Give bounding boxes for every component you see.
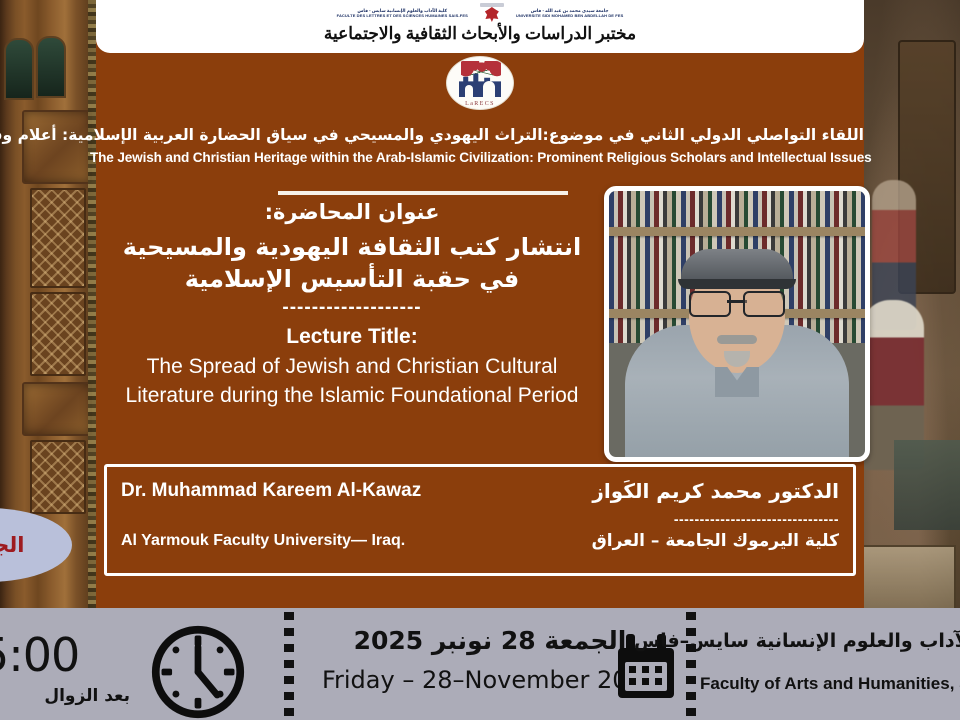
speaker-cap-brim xyxy=(678,279,796,289)
lattice-screen xyxy=(30,188,86,288)
university-crest-icon xyxy=(478,2,506,24)
event-title-arabic: اللقاء التواصلي الدولي الثاني في موضوع:ا… xyxy=(96,126,864,144)
header-strip: كلية الآداب والعلوم الإنسانية سايس - فاس… xyxy=(96,0,864,53)
institution-logos-row: كلية الآداب والعلوم الإنسانية سايس - فاس… xyxy=(96,2,864,24)
title-divider-rule xyxy=(278,191,568,195)
lattice-screen xyxy=(30,292,86,376)
speaker-info-box: Dr. Muhammad Kareem Al-Kawaz الدكتور محم… xyxy=(104,464,856,576)
speaker-affiliation-english: Al Yarmouk Faculty University— Iraq. xyxy=(121,532,405,550)
faculty-identity-left: كلية الآداب والعلوم الإنسانية سايس - فاس… xyxy=(337,8,468,19)
lattice-screen xyxy=(30,440,86,514)
laboratory-name: مختبر الدراسات والأبحاث الثقافية والاجتم… xyxy=(96,24,864,44)
venue-arabic: كلية الآداب والعلوم الإنسانية سايس–فاس xyxy=(700,630,960,652)
wood-panel xyxy=(22,382,92,436)
arch-opening xyxy=(4,38,34,100)
speaker-name-row: Dr. Muhammad Kareem Al-Kawaz الدكتور محم… xyxy=(121,479,839,503)
larecs-logo-label: LaRECS xyxy=(447,101,513,107)
speaker-name-arabic: الدكتور محمد كريم الكَواز xyxy=(592,479,839,503)
speaker-photo xyxy=(604,186,870,462)
lecture-label-english: Lecture Title: xyxy=(112,325,592,349)
lecture-divider: ------------------- xyxy=(112,297,592,319)
logo-arch xyxy=(483,81,495,97)
footer-time-cell: 5:00 بعد الزوال xyxy=(0,608,130,720)
lecture-title-english: The Spread of Jewish and Christian Cultu… xyxy=(112,353,592,410)
footer-divider xyxy=(686,612,696,720)
venue-english: Faculty of Arts and Humanities, Sais–Fes xyxy=(700,674,960,694)
speaker-affiliation-row: Al Yarmouk Faculty University— Iraq. كلي… xyxy=(121,531,839,551)
reading-table xyxy=(894,440,960,530)
university-identity-right: جامعة سيدي محمد بن عبد الله - فاس UNIVER… xyxy=(516,8,624,19)
wood-panel xyxy=(22,110,92,184)
larecs-logo-icon: LaRECS xyxy=(446,56,514,110)
speaker-moustache xyxy=(717,335,757,344)
speaker-affiliation-arabic: كلية اليرموك الجامعة – العراق xyxy=(592,531,839,551)
footer-divider xyxy=(284,612,294,720)
lecture-title-arabic: انتشار كتب الثقافة اليهودية والمسيحية في… xyxy=(112,232,592,295)
lecture-label-arabic: عنوان المحاضرة: xyxy=(112,200,592,224)
arch-opening xyxy=(36,36,66,98)
lecture-block: عنوان المحاضرة: انتشار كتب الثقافة اليهو… xyxy=(112,200,592,410)
clock-icon xyxy=(150,624,246,720)
speaker-name-english: Dr. Muhammad Kareem Al-Kawaz xyxy=(121,480,421,502)
event-poster: كلية الآداب والعلوم الإنسانية سايس - فاس… xyxy=(0,0,960,720)
footer-bar: 5:00 بعد الزوال الجمعة 28 نونبر 2025 Fri… xyxy=(0,608,960,720)
speaker-divider: -------------------------------- xyxy=(674,511,839,527)
faculty-name-fr: FACULTE DES LETTRES ET DES SCIENCES HUMA… xyxy=(337,13,468,18)
speaker-glasses xyxy=(689,291,785,313)
logo-flowers xyxy=(461,61,501,77)
logo-arch xyxy=(465,85,473,97)
university-name-fr: UNIVERSITE SIDI MOHAMED BEN ABDELLAH DE … xyxy=(516,13,624,18)
event-time: 5:00 xyxy=(0,628,130,682)
shelf-board xyxy=(609,227,865,236)
footer-venue-cell: كلية الآداب والعلوم الإنسانية سايس–فاس F… xyxy=(700,608,960,720)
event-time-note: بعد الزوال xyxy=(0,686,130,706)
event-title-english: The Jewish and Christian Heritage within… xyxy=(90,150,870,165)
